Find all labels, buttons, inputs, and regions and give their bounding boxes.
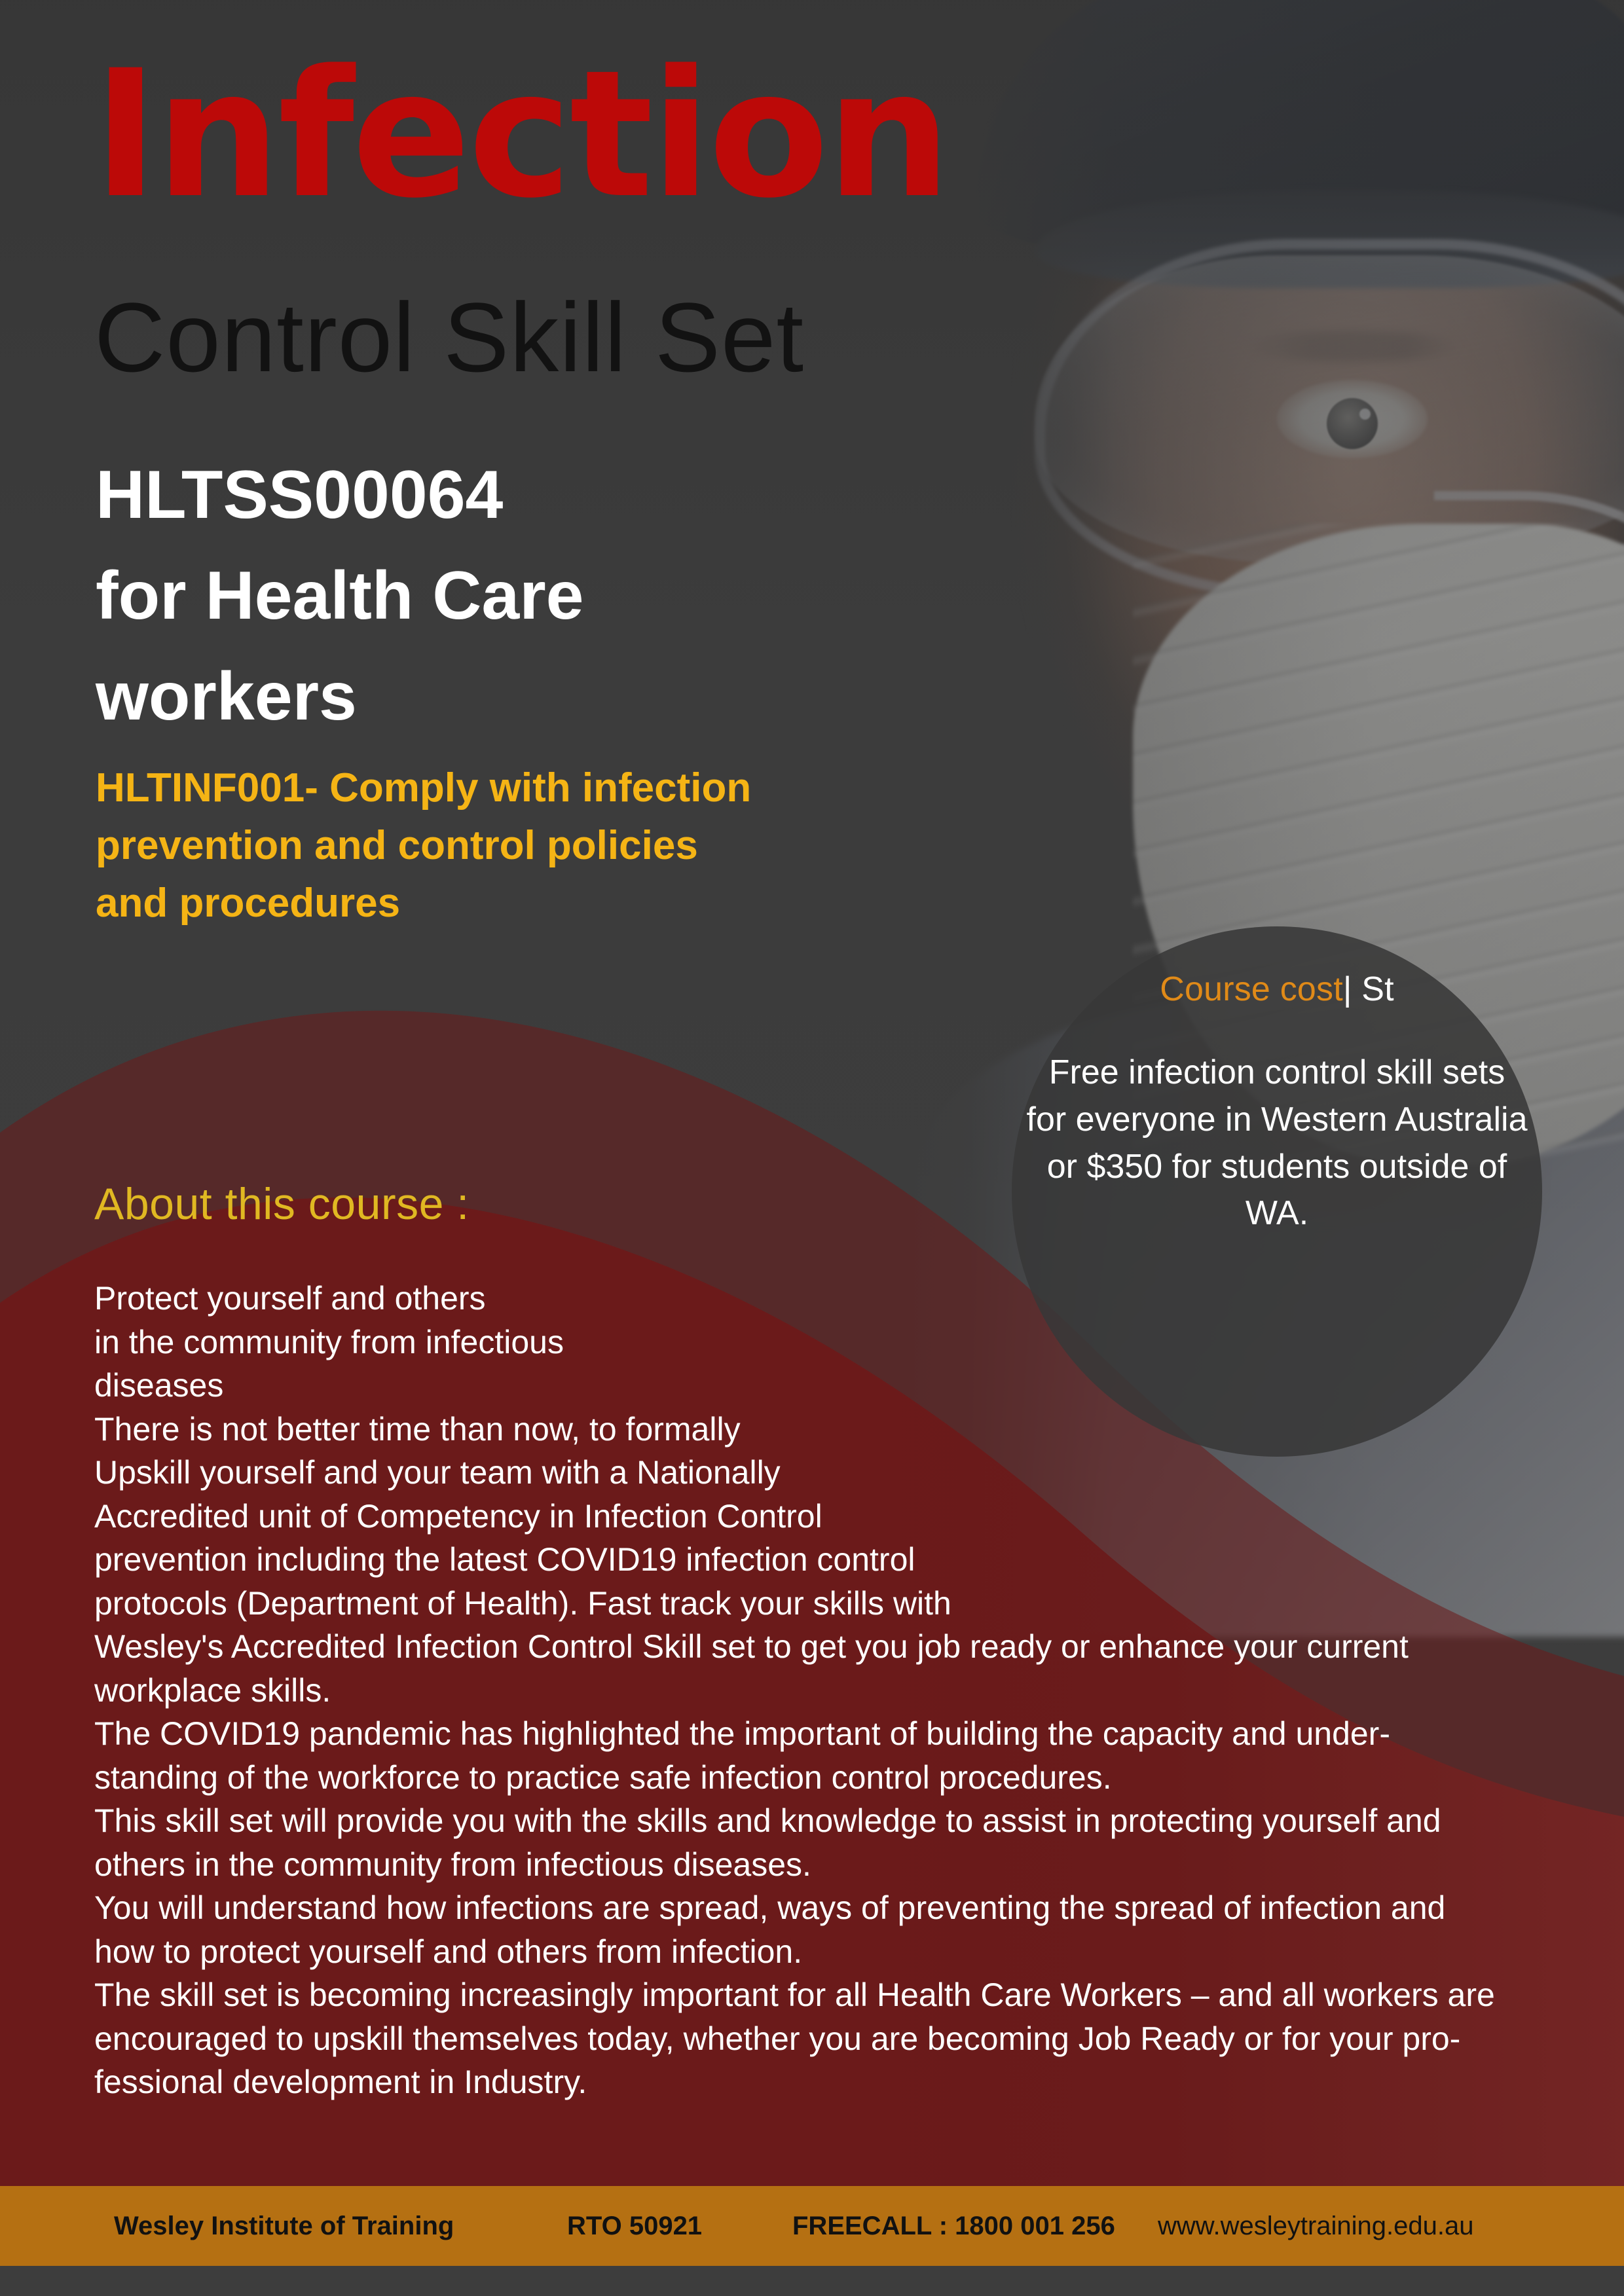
- about-section-body: Protect yourself and others in the commu…: [94, 1277, 1568, 2104]
- course-code-line-1: HLTSS00064: [96, 445, 584, 546]
- course-cost-description: Free infection control skill sets for ev…: [1025, 1049, 1529, 1237]
- about-line: others in the community from infectious …: [94, 1843, 1568, 1887]
- about-line: encouraged to upskill themselves today, …: [94, 2017, 1568, 2061]
- unit-of-competency-block: HLTINF001- Comply with infection prevent…: [96, 759, 751, 932]
- about-line: fessional development in Industry.: [94, 2060, 1568, 2104]
- about-line: The COVID19 pandemic has highlighted the…: [94, 1712, 1568, 1756]
- unit-line-1: HLTINF001- Comply with infection: [96, 759, 751, 817]
- about-line: This skill set will provide you with the…: [94, 1799, 1568, 1843]
- course-cost-label: Course cost| St: [1160, 970, 1394, 1009]
- about-line: in the community from infectious: [94, 1321, 1568, 1364]
- page-title-infection: Infection: [93, 47, 949, 223]
- about-line: protocols (Department of Health). Fast t…: [94, 1582, 1568, 1626]
- about-line: Protect yourself and others: [94, 1277, 1568, 1321]
- course-code-line-3: workers: [96, 647, 584, 748]
- course-cost-label-white: | St: [1343, 970, 1394, 1008]
- unit-line-3: and procedures: [96, 875, 751, 932]
- about-line: There is not better time than now, to fo…: [94, 1408, 1568, 1451]
- about-line: prevention including the latest COVID19 …: [94, 1538, 1568, 1582]
- footer-rto-number: RTO 50921: [567, 2212, 702, 2241]
- page-subtitle-control-skill-set: Control Skill Set: [94, 288, 804, 386]
- about-line: standing of the workforce to practice sa…: [94, 1756, 1568, 1800]
- about-line: Upskill yourself and your team with a Na…: [94, 1451, 1568, 1495]
- about-line: Wesley's Accredited Infection Control Sk…: [94, 1625, 1568, 1669]
- course-code-line-2: for Health Care: [96, 546, 584, 647]
- footer-bottom-strip: [0, 2266, 1624, 2296]
- about-section-heading: About this course :: [94, 1178, 470, 1230]
- unit-line-2: prevention and control policies: [96, 817, 751, 875]
- about-line: how to protect yourself and others from …: [94, 1930, 1568, 1974]
- about-line: workplace skills.: [94, 1669, 1568, 1713]
- footer-bar: Wesley Institute of Training RTO 50921 F…: [0, 2186, 1624, 2266]
- course-cost-label-orange: Course cost: [1160, 970, 1343, 1008]
- about-line: diseases: [94, 1364, 1568, 1408]
- about-line: You will understand how infections are s…: [94, 1886, 1568, 1930]
- about-line: Accredited unit of Competency in Infecti…: [94, 1495, 1568, 1539]
- footer-organisation: Wesley Institute of Training: [114, 2212, 454, 2241]
- footer-freecall[interactable]: FREECALL : 1800 001 256: [792, 2212, 1115, 2241]
- poster-canvas: Infection Control Skill Set HLTSS00064 f…: [0, 0, 1624, 2296]
- footer-website-link[interactable]: www.wesleytraining.edu.au: [1158, 2212, 1473, 2241]
- course-code-block: HLTSS00064 for Health Care workers: [96, 445, 584, 748]
- about-line: The skill set is becoming increasingly i…: [94, 1973, 1568, 2017]
